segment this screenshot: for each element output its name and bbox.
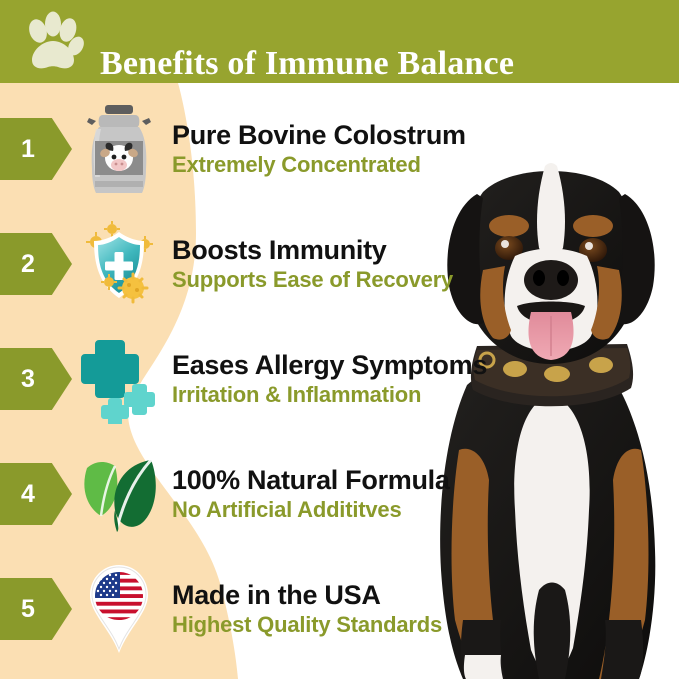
benefit-title: 100% Natural Formula <box>172 465 560 495</box>
number-badge-2: 2 <box>0 233 72 295</box>
benefit-subtitle: Irritation & Inflammation <box>172 383 560 408</box>
shield-cross-virus-icon <box>76 214 162 314</box>
number-badge-1: 1 <box>0 118 72 180</box>
benefit-row-4: 4 100% Natural Formula No Artificial Add… <box>0 436 560 552</box>
benefit-text-3: Eases Allergy Symptoms Irritation & Infl… <box>172 350 560 408</box>
number-badge-3: 3 <box>0 348 72 410</box>
benefit-title: Boosts Immunity <box>172 235 560 265</box>
benefit-title: Made in the USA <box>172 580 560 610</box>
badge-number: 2 <box>0 233 72 295</box>
benefit-title: Eases Allergy Symptoms <box>172 350 560 380</box>
benefit-text-1: Pure Bovine Colostrum Extremely Concentr… <box>172 120 560 178</box>
badge-number: 5 <box>0 578 72 640</box>
benefit-subtitle: No Artificial Addititves <box>172 498 560 523</box>
badge-number: 1 <box>0 118 72 180</box>
benefit-title: Pure Bovine Colostrum <box>172 120 560 150</box>
benefit-row-3: 3 Eases Allergy Symptoms Irritation & In… <box>0 321 560 437</box>
benefits-list: 1 <box>0 83 679 679</box>
badge-number: 3 <box>0 348 72 410</box>
header-bar: Benefits of Immune Balance <box>0 0 679 83</box>
number-badge-5: 5 <box>0 578 72 640</box>
badge-number: 4 <box>0 463 72 525</box>
medical-cross-icon <box>76 329 162 429</box>
milk-can-cow-icon <box>76 99 162 199</box>
benefit-row-5: 5 <box>0 551 560 667</box>
green-leaves-icon <box>76 444 162 544</box>
benefit-row-1: 1 <box>0 91 560 207</box>
usa-flag-pin-icon <box>76 559 162 659</box>
paw-print-icon <box>22 11 84 73</box>
benefit-text-2: Boosts Immunity Supports Ease of Recover… <box>172 235 560 293</box>
number-badge-4: 4 <box>0 463 72 525</box>
benefit-subtitle: Supports Ease of Recovery <box>172 268 560 293</box>
page-title: Benefits of Immune Balance <box>100 23 514 106</box>
benefit-subtitle: Extremely Concentrated <box>172 153 560 178</box>
benefit-row-2: 2 <box>0 206 560 322</box>
benefit-text-5: Made in the USA Highest Quality Standard… <box>172 580 560 638</box>
benefit-text-4: 100% Natural Formula No Artificial Addit… <box>172 465 560 523</box>
infographic-root: Benefits of Immune Balance 1 <box>0 0 679 679</box>
benefit-subtitle: Highest Quality Standards <box>172 613 560 638</box>
